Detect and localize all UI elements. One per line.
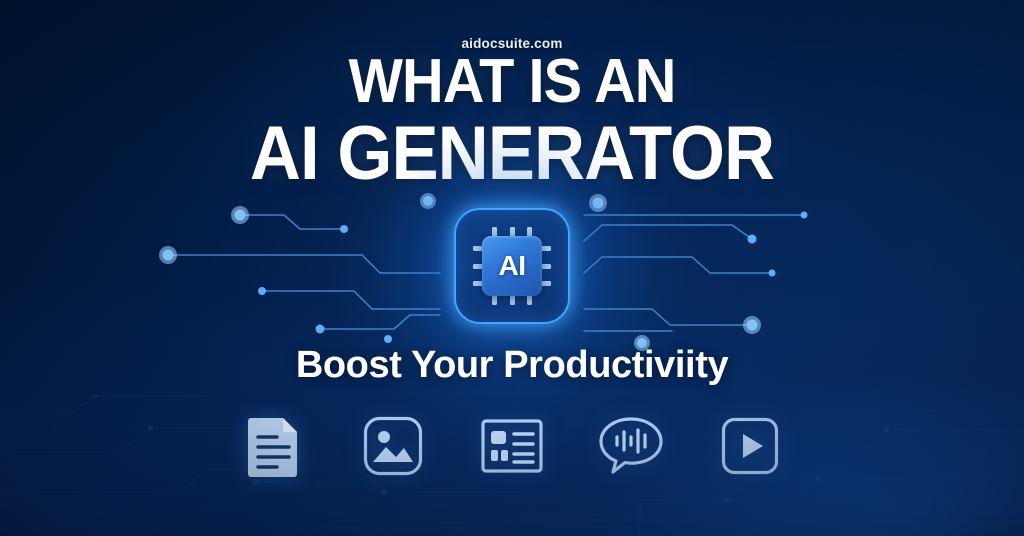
chip-graphic: AI [0,186,1024,346]
voice-chat-icon [597,412,665,480]
headline-line-2: AI GENERATOR [36,118,988,191]
image-icon [359,412,427,480]
subtitle: Boost Your Productiviity [0,344,1024,387]
headline-line-1: WHAT IS AN [36,52,988,112]
poster-canvas: aidocsuite.com WHAT IS AN AI GENERATOR [0,0,1024,536]
page-title: WHAT IS AN AI GENERATOR [0,52,1024,190]
video-play-icon [716,412,784,480]
feature-icon-row [0,412,1024,480]
document-icon [240,412,308,480]
ai-chip-icon: AI [473,227,551,305]
chip-body: AI [482,236,542,296]
chip-label: AI [499,252,526,280]
presentation-icon [478,412,546,480]
